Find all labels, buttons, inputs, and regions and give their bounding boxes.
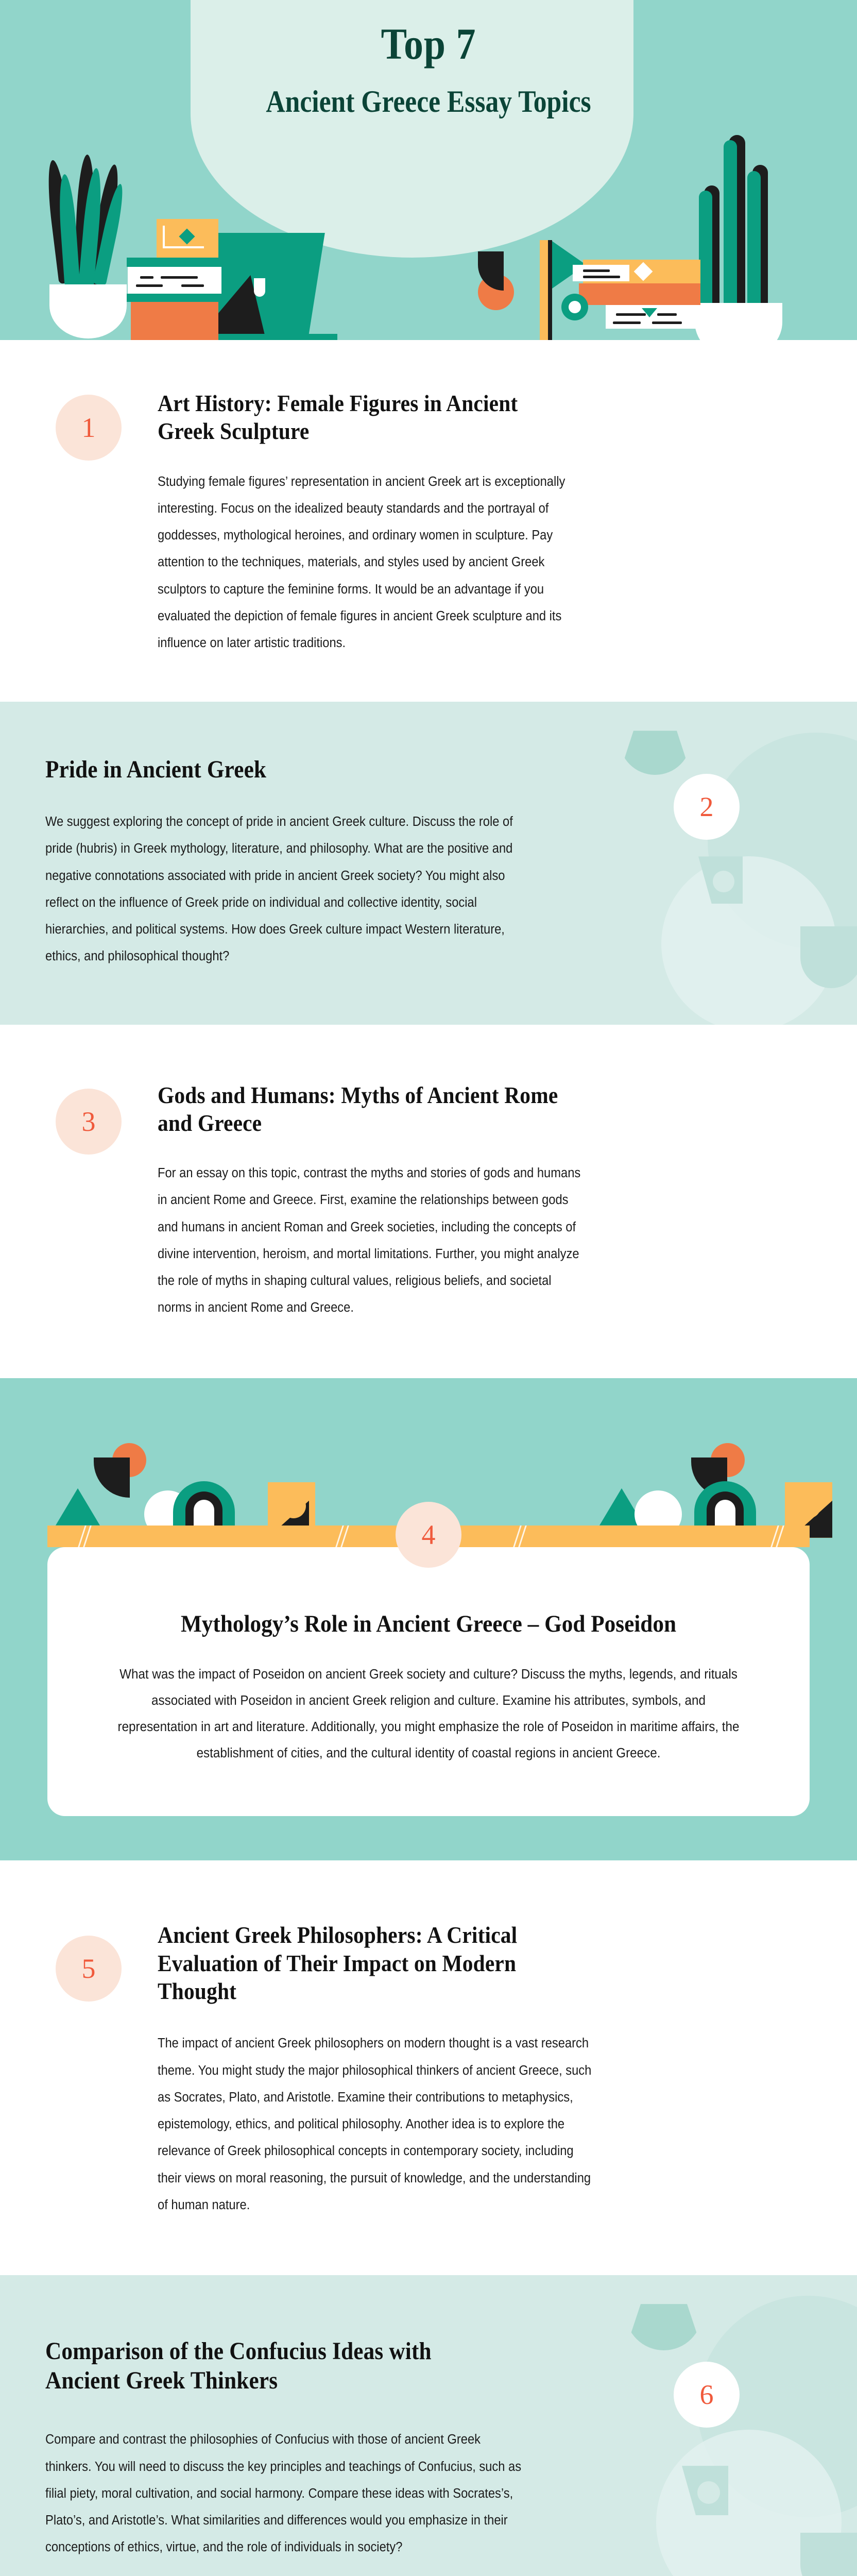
topic-number: 6 [700, 2379, 714, 2411]
topic-number-badge: 4 [396, 1502, 461, 1568]
topic-number-badge: 2 [674, 774, 740, 840]
topic-row: 1 Art History: Female Figures in Ancient… [0, 389, 857, 656]
topic-title: Art History: Female Figures in Ancient G… [158, 389, 570, 446]
infographic-page: Top 7 Ancient Greece Essay Topics 1 Art … [0, 0, 857, 2576]
topic-section-3: 3 Gods and Humans: Myths of Ancient Rome… [0, 1025, 857, 1378]
topic-body: For an essay on this topic, contrast the… [158, 1160, 584, 1321]
topic-body: Compare and contrast the philosophies of… [45, 2426, 524, 2561]
topic-number: 3 [82, 1106, 96, 1138]
books-stack-right [561, 260, 700, 340]
topic-row: 6 Comparison of the Confucius Ideas with… [0, 2337, 857, 2561]
abstract-circle-shape [478, 251, 524, 308]
topic-text-block: Art History: Female Figures in Ancient G… [158, 389, 616, 656]
topic-body: The impact of ancient Greek philosophers… [158, 2030, 598, 2218]
topic-title: Comparison of the Confucius Ideas with A… [45, 2337, 509, 2395]
topic-section-4: 4 Mythology’s Role in Ancient Greece – G… [0, 1378, 857, 1861]
topic-number: 1 [82, 412, 96, 444]
topic-section-6: 6 Comparison of the Confucius Ideas with… [0, 2275, 857, 2576]
topic-body: What was the impact of Poseidon on ancie… [111, 1662, 747, 1767]
books-stack-left [127, 258, 222, 340]
header-banner: Top 7 Ancient Greece Essay Topics [0, 0, 857, 340]
topic-number-badge: 3 [56, 1089, 122, 1155]
page-title-top: Top 7 [52, 21, 805, 67]
topic-text-block: Pride in Ancient Greek We suggest explor… [45, 755, 565, 970]
topic-body: We suggest exploring the concept of prid… [45, 808, 529, 970]
topic-text-block: Comparison of the Confucius Ideas with A… [45, 2337, 560, 2561]
topic-number: 2 [700, 791, 714, 823]
topic-number-badge: 5 [56, 1936, 122, 2002]
topic-card: Mythology’s Role in Ancient Greece – God… [47, 1547, 810, 1817]
page-title-sub: Ancient Greece Essay Topics [60, 86, 797, 118]
topic-number: 5 [82, 1953, 96, 1985]
topic-title: Mythology’s Role in Ancient Greece – God… [121, 1609, 736, 1639]
topic-number: 4 [422, 1519, 436, 1551]
topic-title: Ancient Greek Philosophers: A Critical E… [158, 1921, 584, 2005]
topic-text-block: Gods and Humans: Myths of Ancient Rome a… [158, 1081, 616, 1321]
topic-number-badge: 6 [674, 2362, 740, 2428]
cactus-illustration [695, 113, 798, 325]
topic-section-1: 1 Art History: Female Figures in Ancient… [0, 340, 857, 702]
topic-body: Studying female figures’ representation … [158, 468, 584, 657]
topic-text-block: Ancient Greek Philosophers: A Critical E… [158, 1921, 631, 2218]
topic-title: Gods and Humans: Myths of Ancient Rome a… [158, 1081, 570, 1138]
topic-section-5: 5 Ancient Greek Philosophers: A Critical… [0, 1860, 857, 2275]
topic-row: 2 Pride in Ancient Greek We suggest expl… [0, 755, 857, 970]
topic-number-badge: 1 [56, 395, 122, 461]
topic-title: Pride in Ancient Greek [45, 755, 513, 785]
header-title-block: Top 7 Ancient Greece Essay Topics [0, 21, 857, 118]
topic-row: 5 Ancient Greek Philosophers: A Critical… [0, 1921, 857, 2218]
topic-row: 3 Gods and Humans: Myths of Ancient Rome… [0, 1081, 857, 1321]
topic-section-2: 2 Pride in Ancient Greek We suggest expl… [0, 702, 857, 1024]
